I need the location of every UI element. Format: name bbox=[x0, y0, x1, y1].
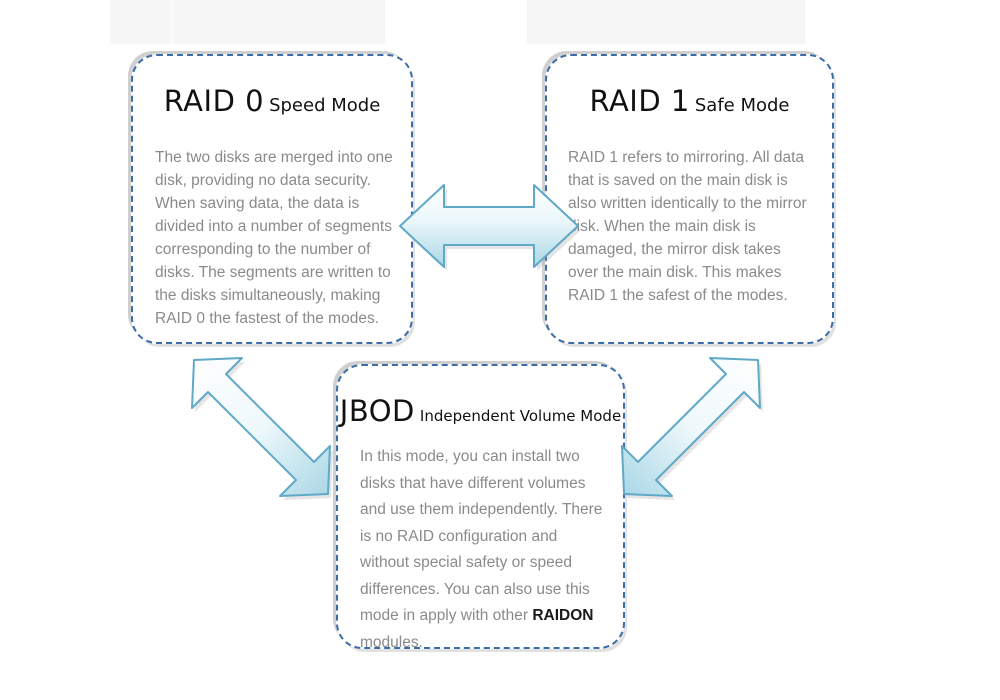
double-headed-horizontal-arrow-icon bbox=[396, 178, 582, 274]
jbod-title-main: JBOD bbox=[340, 394, 415, 428]
jbod-title: JBODIndependent Volume Mode bbox=[338, 366, 623, 428]
raid0-box[interactable]: RAID 0Speed Mode The two disks are merge… bbox=[131, 54, 413, 344]
background-artifact-right bbox=[527, 0, 805, 44]
raidon-brand-label: RAIDON bbox=[532, 607, 593, 624]
raid1-description: RAID 1 refers to mirroring. All data tha… bbox=[547, 118, 832, 307]
raid0-title-main: RAID 0 bbox=[164, 84, 264, 118]
raid1-title-main: RAID 1 bbox=[589, 84, 689, 118]
raid1-box[interactable]: RAID 1Safe Mode RAID 1 refers to mirrori… bbox=[545, 54, 834, 344]
background-artifact-seam-left bbox=[170, 0, 174, 44]
jbod-description-part2: modules. bbox=[360, 634, 423, 651]
jbod-description-part1: In this mode, you can install two disks … bbox=[360, 448, 602, 624]
double-headed-diagonal-arrow-left-icon bbox=[186, 352, 338, 502]
raid0-description: The two disks are merged into one disk, … bbox=[133, 118, 411, 330]
raid0-title: RAID 0Speed Mode bbox=[133, 56, 411, 118]
raid0-title-sub: Speed Mode bbox=[269, 95, 380, 116]
raid1-title-sub: Safe Mode bbox=[695, 95, 790, 116]
jbod-description: In this mode, you can install two disks … bbox=[338, 428, 623, 656]
double-headed-diagonal-arrow-right-icon bbox=[614, 352, 766, 502]
raid1-title: RAID 1Safe Mode bbox=[547, 56, 832, 118]
jbod-box[interactable]: JBODIndependent Volume Mode In this mode… bbox=[336, 364, 625, 649]
diagram-canvas: RAID 0Speed Mode The two disks are merge… bbox=[0, 0, 1000, 700]
jbod-title-sub: Independent Volume Mode bbox=[420, 407, 621, 425]
background-artifact-left bbox=[110, 0, 385, 44]
